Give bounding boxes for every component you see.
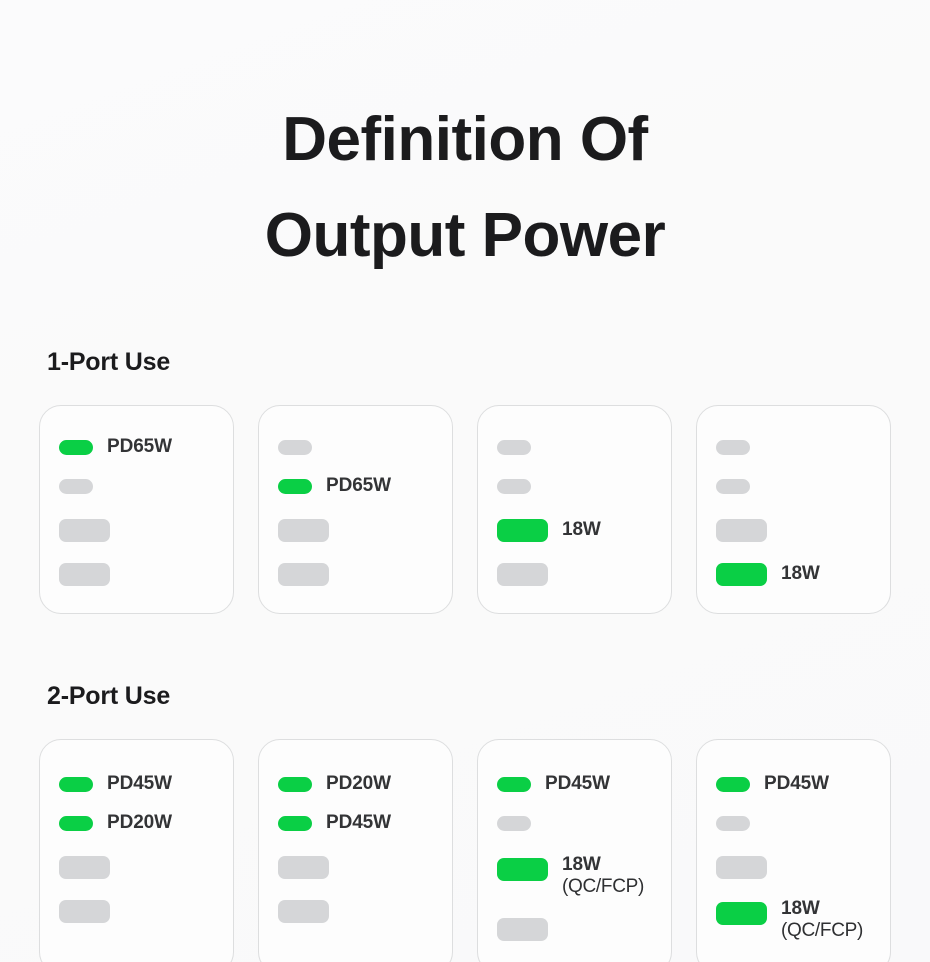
port-power-label: 18W(QC/FCP): [781, 898, 863, 943]
section-one-port: 1-Port Use PD65WPD65W18W18W: [0, 348, 930, 614]
port-row: [59, 517, 233, 543]
usb-c-port-icon: [278, 816, 312, 831]
section-two-port: 2-Port Use PD45WPD20WPD20WPD45WPD45W18W(…: [0, 682, 930, 962]
port-power-label: 18W: [781, 563, 820, 585]
port-row: PD20W: [59, 810, 233, 836]
usb-a-port-icon: [59, 563, 110, 586]
port-row: [716, 854, 890, 880]
section-heading: 2-Port Use: [47, 682, 930, 711]
port-row: [278, 517, 452, 543]
charger-card: 18W: [696, 405, 891, 614]
port-row: [497, 561, 671, 587]
usb-a-port-icon: [278, 563, 329, 586]
port-power-label: 18W: [562, 519, 601, 541]
port-row: PD45W: [497, 771, 671, 797]
charger-card: PD65W: [39, 405, 234, 614]
port-row: [497, 810, 671, 836]
usb-c-port-icon: [278, 777, 312, 792]
port-power-label: PD65W: [107, 436, 172, 458]
usb-a-port-icon: [716, 519, 767, 542]
charger-card: 18W: [477, 405, 672, 614]
port-row: PD20W: [278, 771, 452, 797]
port-row: [278, 898, 452, 924]
usb-c-port-icon: [59, 440, 93, 455]
usb-c-port-icon: [497, 777, 531, 792]
usb-c-port-icon: [497, 816, 531, 831]
usb-a-port-icon: [278, 519, 329, 542]
port-power-label: PD65W: [326, 475, 391, 497]
usb-a-port-icon: [497, 918, 548, 941]
port-row: [59, 898, 233, 924]
port-row: [59, 854, 233, 880]
port-power-label: PD20W: [326, 773, 391, 795]
port-protocol-label: (QC/FCP): [781, 920, 863, 942]
port-power-label: PD45W: [107, 773, 172, 795]
usb-c-port-icon: [716, 479, 750, 494]
port-row: PD65W: [278, 473, 452, 499]
page-title-line-1: Definition Of: [0, 92, 930, 188]
port-row: [59, 561, 233, 587]
port-row: [716, 810, 890, 836]
usb-a-port-icon: [716, 902, 767, 925]
port-row: 18W: [716, 561, 890, 587]
port-row: PD45W: [278, 810, 452, 836]
card-row-two-port: PD45WPD20WPD20WPD45WPD45W18W(QC/FCP)PD45…: [0, 739, 930, 962]
usb-c-port-icon: [497, 440, 531, 455]
port-row: [716, 473, 890, 499]
port-power-label: PD20W: [107, 812, 172, 834]
port-protocol-label: (QC/FCP): [562, 876, 644, 898]
port-row: PD45W: [716, 771, 890, 797]
port-row: 18W: [497, 517, 671, 543]
page-title-line-2: Output Power: [0, 188, 930, 284]
port-row: PD45W: [59, 771, 233, 797]
page-root: Definition Of Output Power 1-Port Use PD…: [0, 0, 930, 962]
usb-a-port-icon: [497, 563, 548, 586]
port-row: [497, 917, 671, 943]
port-row: [59, 473, 233, 499]
charger-card: PD65W: [258, 405, 453, 614]
port-row: [278, 854, 452, 880]
card-row-one-port: PD65WPD65W18W18W: [0, 405, 930, 614]
port-power-label: 18W(QC/FCP): [562, 854, 644, 899]
port-row: [278, 434, 452, 460]
usb-c-port-icon: [59, 777, 93, 792]
usb-a-port-icon: [278, 856, 329, 879]
usb-a-port-icon: [497, 519, 548, 542]
usb-a-port-icon: [716, 563, 767, 586]
usb-a-port-icon: [497, 858, 548, 881]
port-power-label: PD45W: [326, 812, 391, 834]
usb-c-port-icon: [59, 816, 93, 831]
usb-c-port-icon: [716, 777, 750, 792]
charger-card: PD45W18W(QC/FCP): [477, 739, 672, 962]
port-row: [497, 434, 671, 460]
port-power-label: PD45W: [545, 773, 610, 795]
usb-c-port-icon: [278, 440, 312, 455]
charger-card: PD45W18W(QC/FCP): [696, 739, 891, 962]
port-row: [716, 517, 890, 543]
port-row: 18W(QC/FCP): [716, 898, 890, 943]
section-heading: 1-Port Use: [47, 348, 930, 377]
usb-a-port-icon: [59, 856, 110, 879]
port-row: PD65W: [59, 434, 233, 460]
usb-a-port-icon: [59, 900, 110, 923]
usb-a-port-icon: [716, 856, 767, 879]
usb-c-port-icon: [497, 479, 531, 494]
port-row: [497, 473, 671, 499]
usb-a-port-icon: [278, 900, 329, 923]
usb-c-port-icon: [59, 479, 93, 494]
usb-c-port-icon: [716, 440, 750, 455]
port-power-label: PD45W: [764, 773, 829, 795]
page-title: Definition Of Output Power: [0, 0, 930, 284]
port-row: 18W(QC/FCP): [497, 854, 671, 899]
port-row: [716, 434, 890, 460]
charger-card: PD45WPD20W: [39, 739, 234, 962]
port-row: [278, 561, 452, 587]
charger-card: PD20WPD45W: [258, 739, 453, 962]
usb-a-port-icon: [59, 519, 110, 542]
usb-c-port-icon: [278, 479, 312, 494]
usb-c-port-icon: [716, 816, 750, 831]
